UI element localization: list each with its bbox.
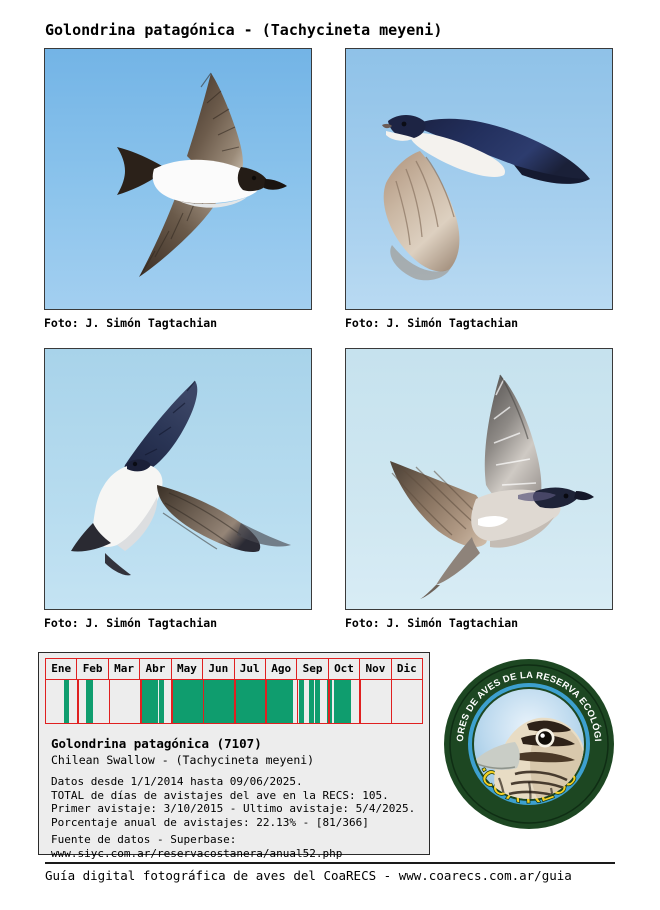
guide-page: Golondrina patagónica - (Tachycineta mey… xyxy=(0,0,660,910)
month-label-sep: Sep xyxy=(297,659,328,679)
bird-illustration-3 xyxy=(65,365,300,600)
photo-4[interactable] xyxy=(345,348,613,610)
sightings-info-panel: Ene Feb Mar Abr May Jun Jul Ago Sep Oct … xyxy=(38,652,430,855)
data-source-block: Fuente de datos - Superbase: www.siyc.co… xyxy=(51,833,342,860)
source-label: Fuente de datos - Superbase: xyxy=(51,833,342,847)
calendar-month-header: Ene Feb Mar Abr May Jun Jul Ago Sep Oct … xyxy=(45,658,423,680)
species-name-es: Golondrina patagónica (7107) xyxy=(51,736,262,751)
stat-date-range: Datos desde 1/1/2014 hasta 09/06/2025. xyxy=(51,775,415,789)
photo-3[interactable] xyxy=(44,348,312,610)
photo-caption-1: Foto: J. Simón Tagtachian xyxy=(44,316,312,330)
source-url[interactable]: www.siyc.com.ar/reservacostanera/anual52… xyxy=(51,847,342,861)
photo-caption-4: Foto: J. Simón Tagtachian xyxy=(345,616,613,630)
month-label-jun: Jun xyxy=(203,659,234,679)
photo-1[interactable] xyxy=(44,48,312,310)
month-label-oct: Oct xyxy=(329,659,360,679)
month-label-jul: Jul xyxy=(235,659,266,679)
footer-divider xyxy=(45,862,615,864)
statistics-block: Datos desde 1/1/2014 hasta 09/06/2025. T… xyxy=(51,775,415,829)
photo-caption-2: Foto: J. Simón Tagtachian xyxy=(345,316,613,330)
coarecs-logo[interactable]: CLUB DE OBSERVADORES DE AVES DE LA RESER… xyxy=(443,658,615,830)
photo-caption-3: Foto: J. Simón Tagtachian xyxy=(44,616,312,630)
month-label-feb: Feb xyxy=(77,659,108,679)
month-label-abr: Abr xyxy=(140,659,171,679)
sighting-bars xyxy=(46,680,422,723)
photo-2[interactable] xyxy=(345,48,613,310)
month-label-nov: Nov xyxy=(360,659,391,679)
annual-sightings-chart: Ene Feb Mar Abr May Jun Jul Ago Sep Oct … xyxy=(45,658,423,730)
photo-cell-4: Foto: J. Simón Tagtachian xyxy=(345,348,613,630)
bird-illustration-1 xyxy=(59,59,304,299)
footer-text: Guía digital fotográfica de aves del Coa… xyxy=(45,868,572,883)
stat-percentage: Porcentaje anual de avistajes: 22.13% - … xyxy=(51,816,415,830)
month-label-may: May xyxy=(172,659,203,679)
stat-first-last: Primer avistaje: 3/10/2015 - Ultimo avis… xyxy=(51,802,415,816)
page-title: Golondrina patagónica - (Tachycineta mey… xyxy=(45,21,442,39)
photo-cell-3: Foto: J. Simón Tagtachian xyxy=(44,348,312,630)
month-label-ene: Ene xyxy=(46,659,77,679)
species-name-en: Chilean Swallow - (Tachycineta meyeni) xyxy=(51,753,314,767)
calendar-bars-area xyxy=(45,680,423,724)
bird-illustration-4 xyxy=(368,359,603,599)
photo-cell-2: Foto: J. Simón Tagtachian xyxy=(345,48,613,330)
bird-illustration-2 xyxy=(364,87,604,287)
stat-total-days: TOTAL de días de avistajes del ave en la… xyxy=(51,789,415,803)
photo-cell-1: Foto: J. Simón Tagtachian xyxy=(44,48,312,330)
month-label-ago: Ago xyxy=(266,659,297,679)
month-label-mar: Mar xyxy=(109,659,140,679)
month-label-dic: Dic xyxy=(392,659,422,679)
